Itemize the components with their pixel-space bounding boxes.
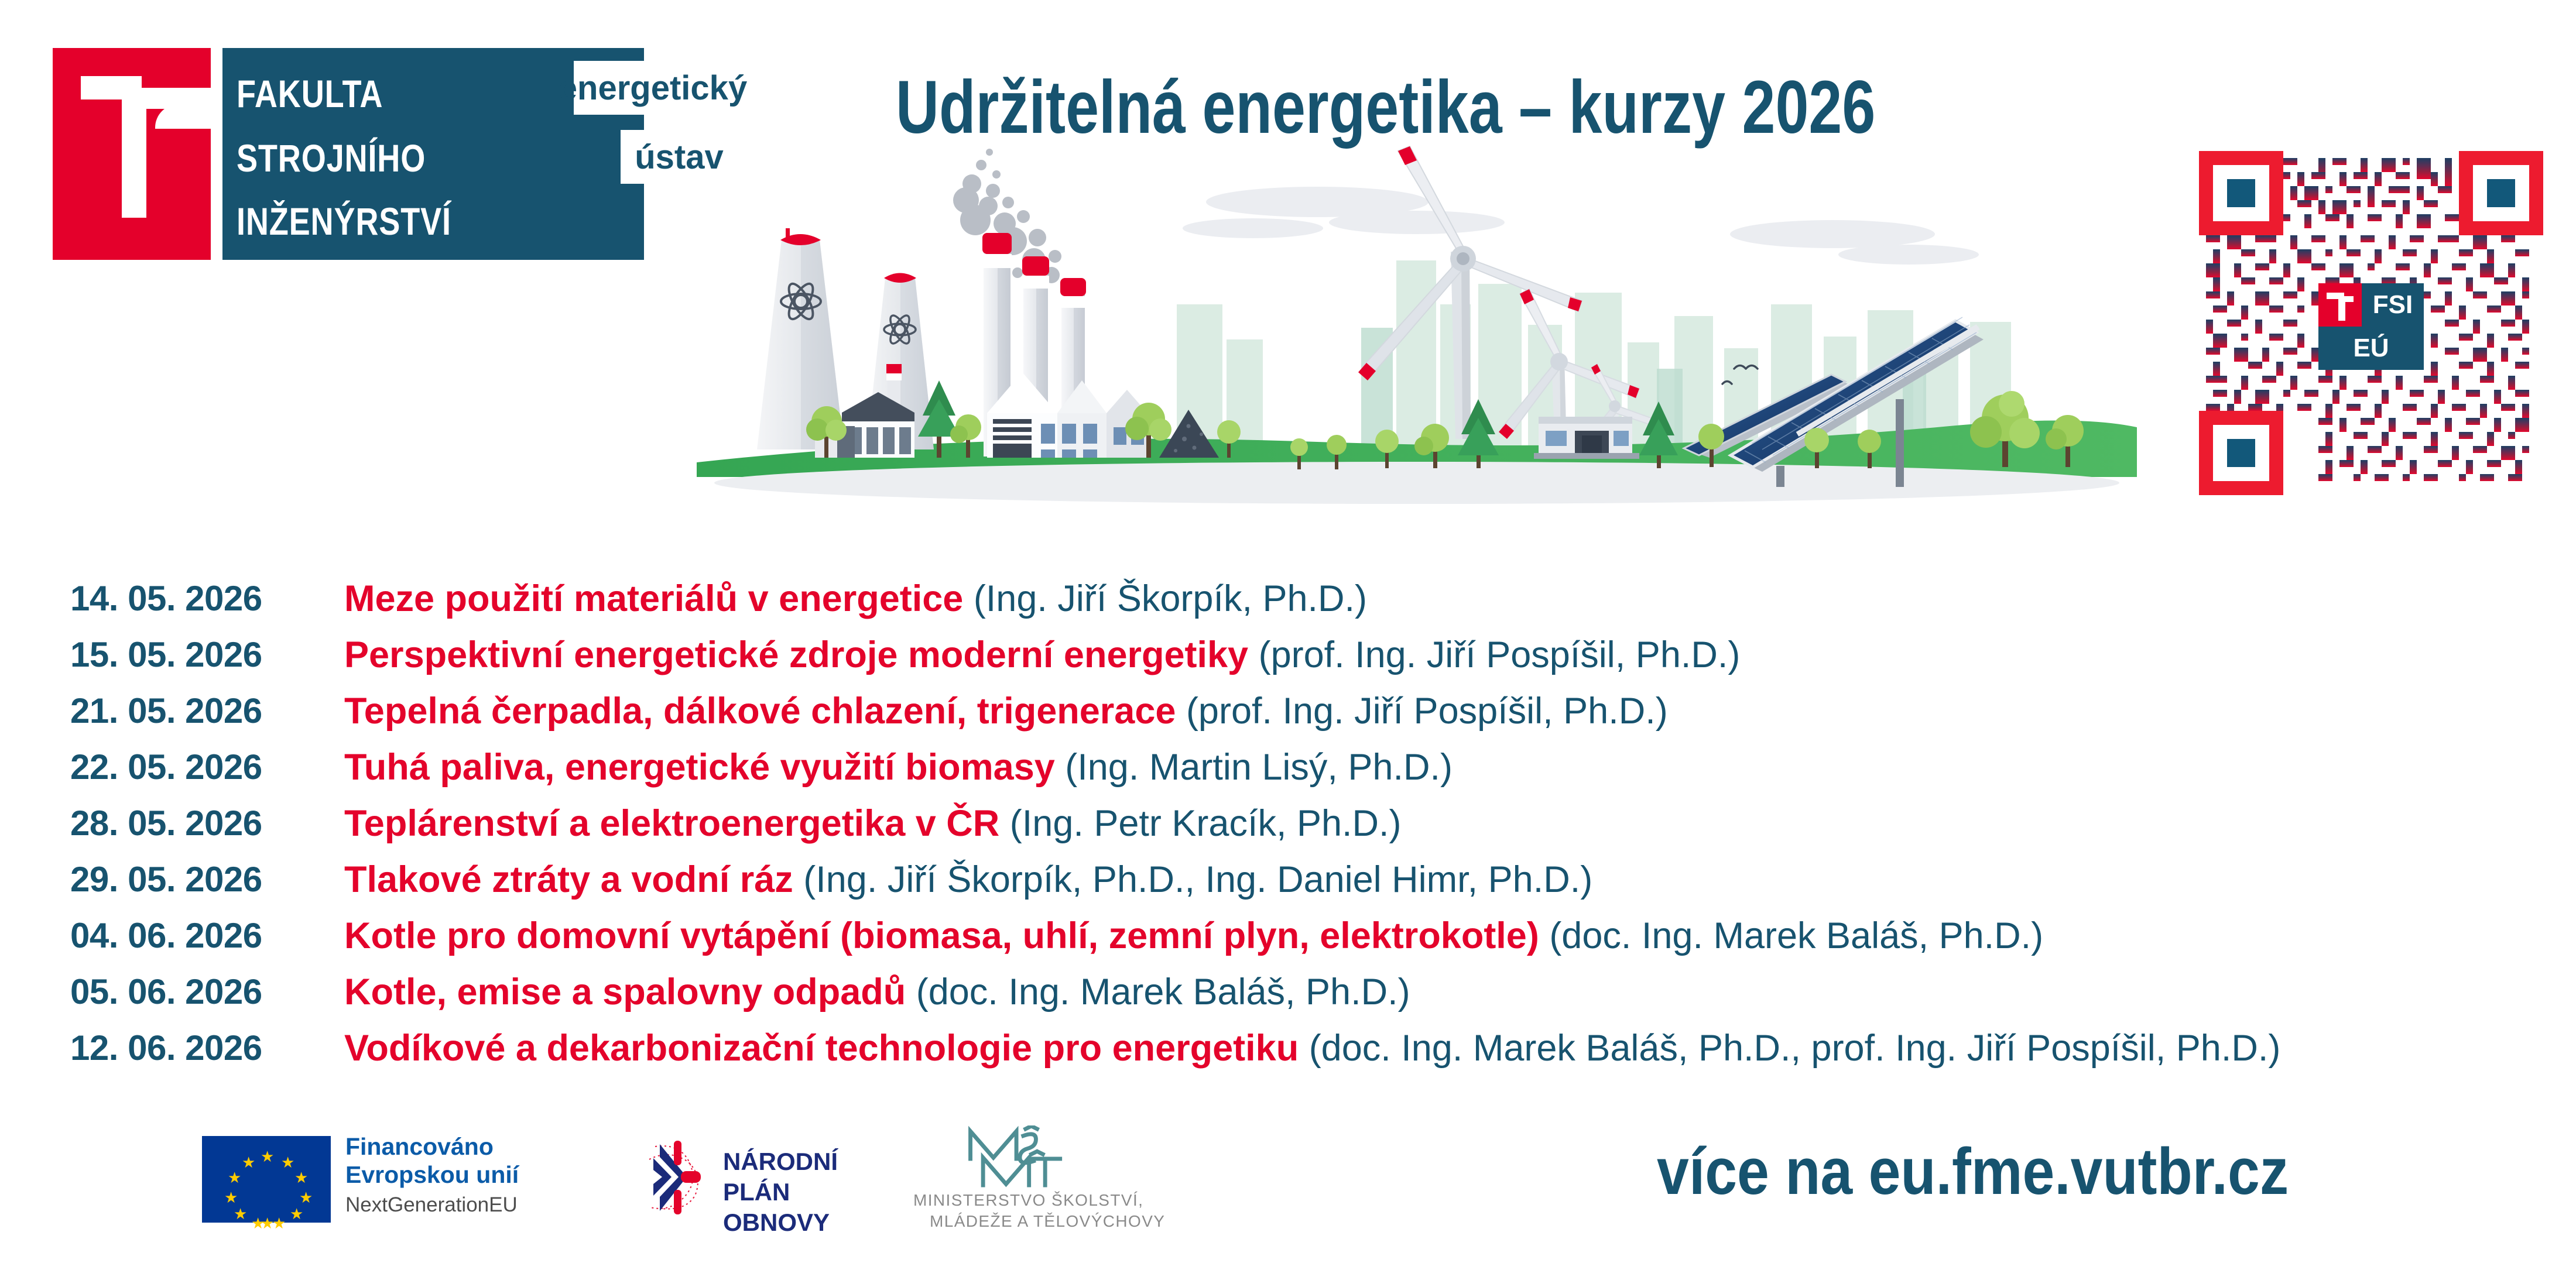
course-title: Meze použití materiálů v energetice [344, 578, 963, 619]
logo-line-inzenyrstvi: INŽENÝRSTVÍ [237, 199, 451, 243]
course-date: 29. 05. 2026 [70, 852, 322, 908]
course-date: 05. 06. 2026 [70, 964, 322, 1020]
course-lecturers: (doc. Ing. Marek Baláš, Ph.D., prof. Ing… [1299, 1028, 2280, 1069]
vut-t-mark-small-icon [2318, 283, 2362, 327]
course-body: Teplárenství a elektroenergetika v ČR (I… [344, 795, 1402, 852]
course-body: Kotle pro domovní vytápění (biomasa, uhl… [344, 908, 2043, 964]
more-info-url[interactable]: více na eu.fme.vutbr.cz [1657, 1139, 2289, 1204]
course-row: 22. 05. 2026 Tuhá paliva, energetické vy… [0, 739, 2576, 795]
msmt-logo: MINISTERSTVO ŠKOLSTVÍ, MLÁDEŽE A TĚLOVÝC… [913, 1125, 1194, 1237]
course-lecturers: (Ing. Petr Kracík, Ph.D.) [999, 803, 1401, 844]
course-body: Tepelná čerpadla, dálkové chlazení, trig… [344, 683, 1668, 739]
qr-code[interactable]: FSI EÚ [2199, 151, 2543, 502]
course-body: Vodíkové a dekarbonizační technologie pr… [344, 1020, 2280, 1076]
npo-mark-icon [629, 1134, 717, 1221]
course-body: Perspektivní energetické zdroje moderní … [344, 627, 1740, 683]
course-date: 12. 06. 2026 [70, 1020, 322, 1076]
course-date: 04. 06. 2026 [70, 908, 322, 964]
energy-illustration [662, 135, 2160, 509]
eu-funding-logo: ★ ★ ★ ★ ★ ★ ★ ★ ★ ★ ★ ★ Financováno Evro… [202, 1132, 600, 1226]
course-lecturers: (prof. Ing. Jiří Pospíšil, Ph.D.) [1176, 691, 1667, 732]
fsi-logo: FAKULTA STROJNÍHO INŽENÝRSTVÍ energetick… [53, 48, 644, 260]
qr-center-logo: FSI EÚ [2318, 283, 2424, 370]
course-lecturers: (Ing. Jiří Škorpík, Ph.D., Ing. Daniel H… [793, 859, 1592, 900]
course-lecturers: (doc. Ing. Marek Baláš, Ph.D.) [906, 972, 1410, 1013]
vut-t-mark-icon [53, 48, 211, 260]
course-title: Tepelná čerpadla, dálkové chlazení, trig… [344, 691, 1176, 732]
eu-funding-text: Financováno Evropskou unií NextGeneratio… [345, 1132, 603, 1219]
qr-logo-fsi: FSI [2362, 283, 2424, 327]
course-lecturers: (doc. Ing. Marek Baláš, Ph.D.) [1539, 915, 2043, 956]
course-lecturers: (prof. Ing. Jiří Pospíšil, Ph.D.) [1248, 634, 1740, 675]
msmt-mark-icon [960, 1125, 1077, 1189]
page-title: Udržitelná energetika – kurzy 2026 [896, 70, 1917, 145]
course-row: 04. 06. 2026 Kotle pro domovní vytápění … [0, 908, 2576, 964]
logo-tag-energeticky: energetický [574, 61, 732, 115]
course-row: 21. 05. 2026 Tepelná čerpadla, dálkové c… [0, 683, 2576, 739]
course-body: Meze použití materiálů v energetice (Ing… [344, 571, 1367, 627]
msmt-line-2: MLÁDEŽE A TĚLOVÝCHOVY [930, 1212, 1165, 1231]
logo-line-fakulta: FAKULTA [237, 71, 383, 116]
logo-line-strojniho: STROJNÍHO [237, 136, 426, 180]
eu-flag-icon: ★ ★ ★ ★ ★ ★ ★ ★ ★ ★ ★ ★ [202, 1136, 331, 1223]
course-list: 14. 05. 2026 Meze použití materiálů v en… [0, 571, 2576, 1076]
course-date: 15. 05. 2026 [70, 627, 322, 683]
course-title: Perspektivní energetické zdroje moderní … [344, 634, 1248, 675]
poster-header: FAKULTA STROJNÍHO INŽENÝRSTVÍ energetick… [0, 0, 2576, 538]
course-body: Kotle, emise a spalovny odpadů (doc. Ing… [344, 964, 1410, 1020]
eu-line-1: Financováno [345, 1132, 603, 1161]
course-row: 28. 05. 2026 Teplárenství a elektroenerg… [0, 795, 2576, 852]
course-lecturers: (Ing. Martin Lisý, Ph.D.) [1055, 747, 1453, 788]
course-title: Tuhá paliva, energetické využití biomasy [344, 747, 1055, 788]
course-lecturers: (Ing. Jiří Škorpík, Ph.D.) [963, 578, 1367, 619]
npo-line-2: PLÁN OBNOVY [723, 1177, 902, 1238]
course-row: 05. 06. 2026 Kotle, emise a spalovny odp… [0, 964, 2576, 1020]
course-body: Tuhá paliva, energetické využití biomasy… [344, 739, 1453, 795]
course-title: Tlakové ztráty a vodní ráz [344, 859, 793, 900]
course-title: Kotle pro domovní vytápění (biomasa, uhl… [344, 915, 1539, 956]
npo-text: NÁRODNÍ PLÁN OBNOVY [723, 1147, 902, 1238]
course-title: Vodíkové a dekarbonizační technologie pr… [344, 1028, 1299, 1069]
course-title: Teplárenství a elektroenergetika v ČR [344, 803, 999, 844]
msmt-line-1: MINISTERSTVO ŠKOLSTVÍ, [913, 1191, 1143, 1210]
course-date: 22. 05. 2026 [70, 739, 322, 795]
course-date: 21. 05. 2026 [70, 683, 322, 739]
course-title: Kotle, emise a spalovny odpadů [344, 972, 906, 1013]
eu-line-3: NextGenerationEU [345, 1191, 603, 1219]
course-date: 28. 05. 2026 [70, 795, 322, 852]
npo-line-1: NÁRODNÍ [723, 1147, 902, 1177]
narodni-plan-obnovy-logo: NÁRODNÍ PLÁN OBNOVY [629, 1134, 902, 1221]
course-row: 12. 06. 2026 Vodíkové a dekarbonizační t… [0, 1020, 2576, 1076]
eu-line-2: Evropskou unií [345, 1161, 603, 1189]
course-row: 14. 05. 2026 Meze použití materiálů v en… [0, 571, 2576, 627]
course-date: 14. 05. 2026 [70, 571, 322, 627]
course-row: 29. 05. 2026 Tlakové ztráty a vodní ráz … [0, 852, 2576, 908]
qr-logo-eu: EÚ [2318, 327, 2424, 370]
course-row: 15. 05. 2026 Perspektivní energetické zd… [0, 627, 2576, 683]
course-body: Tlakové ztráty a vodní ráz (Ing. Jiří Šk… [344, 852, 1592, 908]
